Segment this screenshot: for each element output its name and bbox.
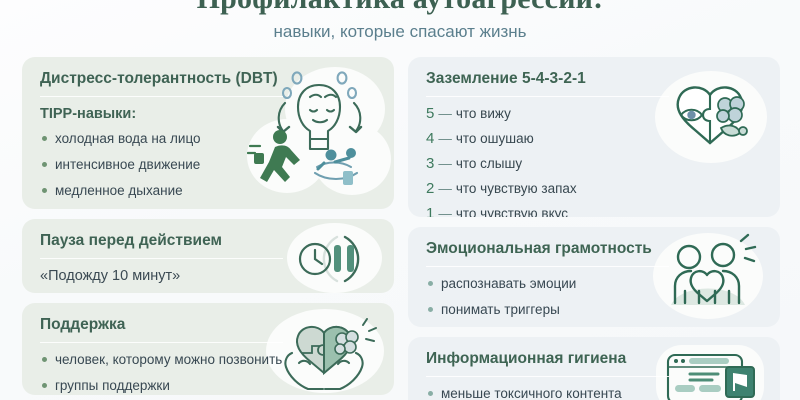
item-dash: — xyxy=(438,181,452,196)
title-divider xyxy=(426,266,669,267)
item-dash: — xyxy=(438,131,452,146)
card-support[interactable]: Поддержка человек, которому можно позвон… xyxy=(22,303,394,395)
card-title: Эмоциональная грамотность xyxy=(426,239,764,259)
bullet-list: холодная вода на лицо интенсивное движен… xyxy=(40,130,378,209)
list-item: группы поддержки xyxy=(40,377,378,394)
item-text: что вижу xyxy=(456,106,511,121)
title-divider xyxy=(40,96,283,97)
infographic-page: Профилактика аутоагрессии: навыки, котор… xyxy=(0,0,800,400)
grounding-list: 5—что вижу 4—что ошушаю 3—что слышу 2—чт… xyxy=(426,105,764,217)
card-pause-before-action[interactable]: Пауза перед действием «Подожду 10 минут» xyxy=(22,219,394,293)
card-title: Пауза перед действием xyxy=(40,231,378,251)
item-text: что чувствую вкус xyxy=(456,206,568,217)
page-subtitle: навыки, которые спасают жизнь xyxy=(0,21,800,43)
item-number: 4 xyxy=(426,130,434,147)
title-divider xyxy=(40,342,283,343)
right-column: Заземление 5-4-3-2-1 5—что вижу 4—что ош… xyxy=(408,57,780,400)
card-emotional-literacy[interactable]: Эмоциональная грамотность распознавать э… xyxy=(408,227,780,327)
list-item: холодная вода на лицо xyxy=(40,130,378,147)
card-distress-tolerance[interactable]: Дистресс-толерантность (DBT) TIPP-навыки… xyxy=(22,57,394,209)
page-title: Профилактика аутоагрессии: xyxy=(0,0,800,16)
list-item: 1—что чувствую вкус xyxy=(426,205,764,217)
list-item: меньше токсичного контента xyxy=(426,385,764,400)
item-number: 2 xyxy=(426,180,434,197)
card-title: Заземление 5-4-3-2-1 xyxy=(426,69,764,89)
card-subhead: TIPP-навыки: xyxy=(40,105,378,123)
list-item: расслабление мышц xyxy=(40,208,378,209)
card-quote: «Подожду 10 минут» xyxy=(40,267,378,286)
card-information-hygiene[interactable]: Информационная гигиена меньше токсичного… xyxy=(408,337,780,400)
title-divider xyxy=(426,96,669,97)
card-grounding[interactable]: Заземление 5-4-3-2-1 5—что вижу 4—что ош… xyxy=(408,57,780,217)
bullet-list: меньше токсичного контента больше поддер… xyxy=(426,385,764,400)
list-item: распознавать эмоции xyxy=(426,275,764,292)
header: Профилактика аутоагрессии: навыки, котор… xyxy=(0,0,800,43)
list-item: медленное дыхание xyxy=(40,182,378,199)
bullet-list: человек, которому можно позвонить группы… xyxy=(40,351,378,395)
left-column: Дистресс-толерантность (DBT) TIPP-навыки… xyxy=(22,57,394,400)
list-item: 4—что ошушаю xyxy=(426,130,764,147)
list-item: понимать триггеры xyxy=(426,301,764,318)
card-title: Дистресс-толерантность (DBT) xyxy=(40,69,378,89)
card-title: Поддержка xyxy=(40,315,378,335)
item-text: что ошушаю xyxy=(456,131,534,146)
item-text: что слышу xyxy=(456,156,522,171)
list-item: 5—что вижу xyxy=(426,105,764,122)
card-title: Информационная гигиена xyxy=(426,349,764,369)
title-divider xyxy=(40,258,283,259)
list-item: человек, которому можно позвонить xyxy=(40,351,378,368)
item-number: 5 xyxy=(426,105,434,122)
item-dash: — xyxy=(438,206,452,217)
item-number: 1 xyxy=(426,205,434,217)
item-number: 3 xyxy=(426,155,434,172)
list-item: 2—что чувствую запах xyxy=(426,180,764,197)
list-item: 3—что слышу xyxy=(426,155,764,172)
bullet-list: распознавать эмоции понимать триггеры ра… xyxy=(426,275,764,327)
list-item: интенсивное движение xyxy=(40,156,378,173)
title-divider xyxy=(426,376,669,377)
item-dash: — xyxy=(438,156,452,171)
item-text: что чувствую запах xyxy=(456,181,577,196)
item-dash: — xyxy=(438,106,452,121)
